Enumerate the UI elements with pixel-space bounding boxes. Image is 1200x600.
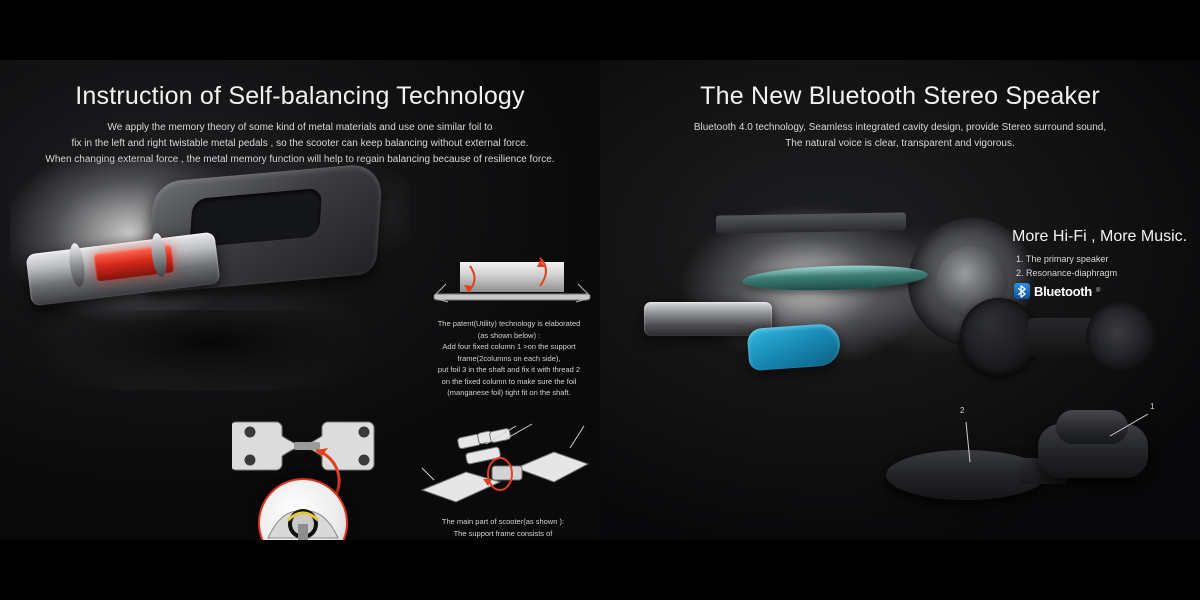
left-panel-title: Instruction of Self-balancing Technology <box>0 82 600 111</box>
diaphragm-cover-part <box>960 298 1038 376</box>
marketing-title: More Hi-Fi , More Music. <box>1012 228 1187 246</box>
main-part-line-2: The support frame consists of <box>405 528 600 540</box>
shaft-assembly-diagram <box>428 256 596 314</box>
exploded-frame-diagram <box>420 418 600 510</box>
patent-note-line-3: Add four fixed column 1 >on the support <box>418 341 600 353</box>
speaker-parts-topview <box>958 290 1158 382</box>
main-part-line-1: The main part of scooter(as shown ): <box>405 516 600 528</box>
callout-leader-lines <box>870 400 1170 520</box>
infographic-stage: Instruction of Self-balancing Technology… <box>0 0 1200 600</box>
speaker-part-item-2: 2. Resonance-diaphragm <box>1016 266 1117 280</box>
speaker-part-item-1: 1. The primary speaker <box>1016 252 1117 266</box>
callout-label-1: 1 <box>1150 402 1154 411</box>
main-part-note: The main part of scooter(as shown ): The… <box>405 516 600 540</box>
right-subtitle-line-1: Bluetooth 4.0 technology, Seamless integ… <box>600 120 1200 136</box>
speaker-parts-list: 1. The primary speaker 2. Resonance-diap… <box>1016 252 1117 280</box>
panel-bluetooth-speaker: The New Bluetooth Stereo Speaker Bluetoo… <box>600 60 1200 540</box>
content-canvas: Instruction of Self-balancing Technology… <box>0 60 1200 540</box>
primary-speaker-part <box>1086 302 1156 372</box>
patent-note-line-2: (as shown below) : <box>418 330 600 342</box>
blue-bracket-part <box>747 323 842 371</box>
scooter-axle-photo <box>0 155 430 445</box>
patent-note-line-1: The patent(Utility) technology is elabor… <box>418 318 600 330</box>
parts-connector-bridge <box>1028 318 1094 356</box>
left-subtitle-line-2: fix in the left and right twistable meta… <box>0 136 600 152</box>
callout-label-2: 2 <box>960 406 964 415</box>
right-panel-subtitle: Bluetooth 4.0 technology, Seamless integ… <box>600 120 1200 152</box>
patent-note-line-7: (manganese foil) tight fit on the shaft. <box>418 387 600 399</box>
letterbox-bottom <box>0 540 1200 600</box>
letterbox-top <box>0 0 1200 60</box>
speaker-parts-sideview: 2 1 <box>870 400 1170 520</box>
patent-note-line-6: on the fixed column to make sure the foi… <box>418 376 600 388</box>
photo-shadow <box>60 310 360 390</box>
left-subtitle-line-1: We apply the memory theory of some kind … <box>0 120 600 136</box>
panel-self-balancing: Instruction of Self-balancing Technology… <box>0 60 600 540</box>
patent-note-line-5: put foil 3 in the shaft and fix it with … <box>418 364 600 376</box>
right-panel-title: The New Bluetooth Stereo Speaker <box>600 82 1200 111</box>
internal-mount-plate <box>716 212 906 233</box>
patent-technology-note: The patent(Utility) technology is elabor… <box>418 318 600 399</box>
patent-note-line-4: frame(2columns on each side), <box>418 353 600 365</box>
